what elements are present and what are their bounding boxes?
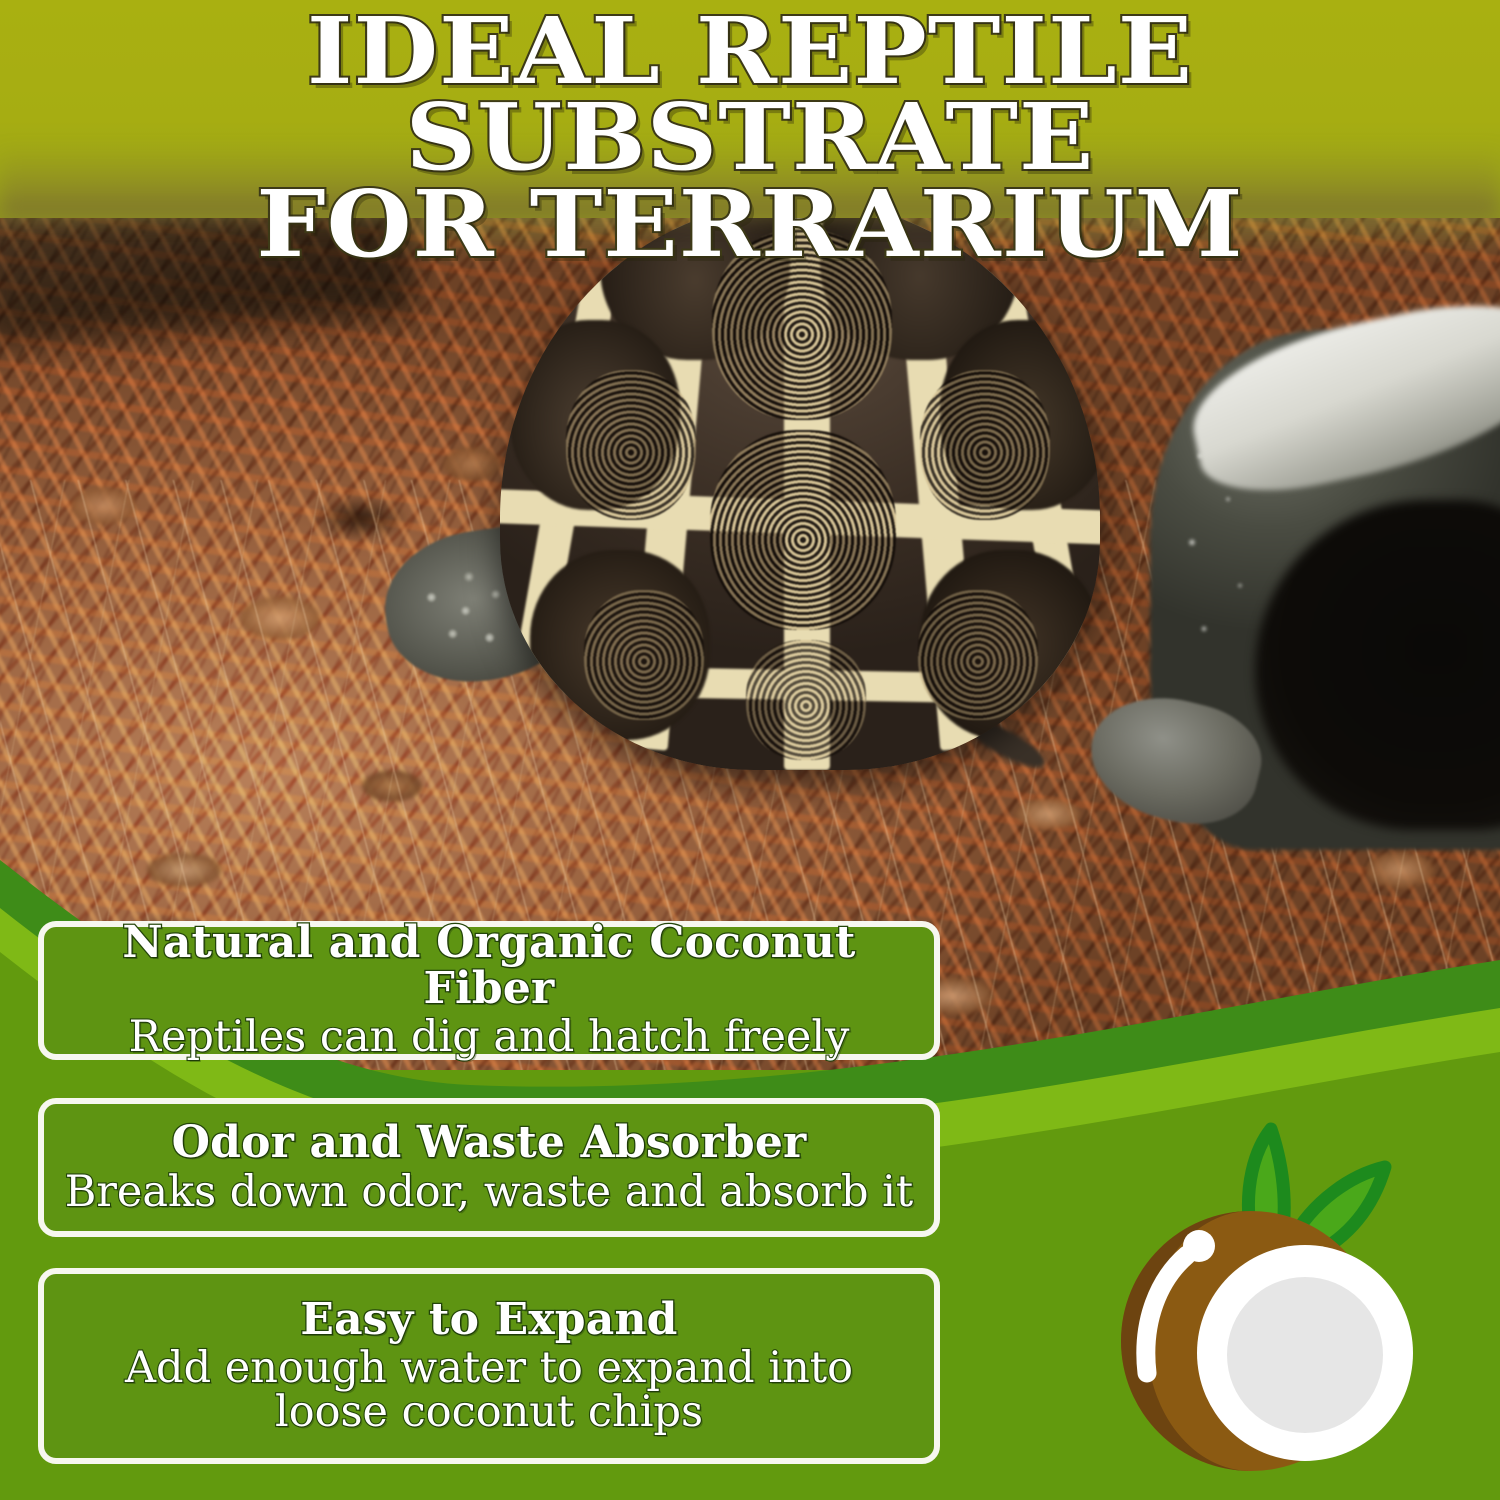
coconut-flesh-inner xyxy=(1227,1277,1383,1433)
feature-box-natural-organic-coconut-fiber[interactable]: Natural and Organic Coconut Fiber Reptil… xyxy=(38,921,940,1060)
feature-heading: Easy to Expand xyxy=(300,1297,677,1343)
product-infographic: IDEAL REPTILE SUBSTRATE FOR TERRARIUM Na… xyxy=(0,0,1500,1500)
feature-heading: Natural and Organic Coconut Fiber xyxy=(62,920,916,1012)
feature-heading: Odor and Waste Absorber xyxy=(172,1120,807,1166)
coconut-highlight-dot xyxy=(1183,1230,1215,1262)
feature-box-easy-to-expand[interactable]: Easy to Expand Add enough water to expan… xyxy=(38,1268,940,1464)
coconut-icon xyxy=(1055,1115,1470,1485)
feature-box-odor-waste-absorber[interactable]: Odor and Waste Absorber Breaks down odor… xyxy=(38,1098,940,1237)
feature-subtext: Reptiles can dig and hatch freely xyxy=(129,1015,850,1061)
feature-subtext-line-2: loose coconut chips xyxy=(275,1391,703,1435)
feature-subtext: Breaks down odor, waste and absorb it xyxy=(65,1170,913,1216)
feature-subtext-line-1: Add enough water to expand into xyxy=(125,1347,853,1391)
